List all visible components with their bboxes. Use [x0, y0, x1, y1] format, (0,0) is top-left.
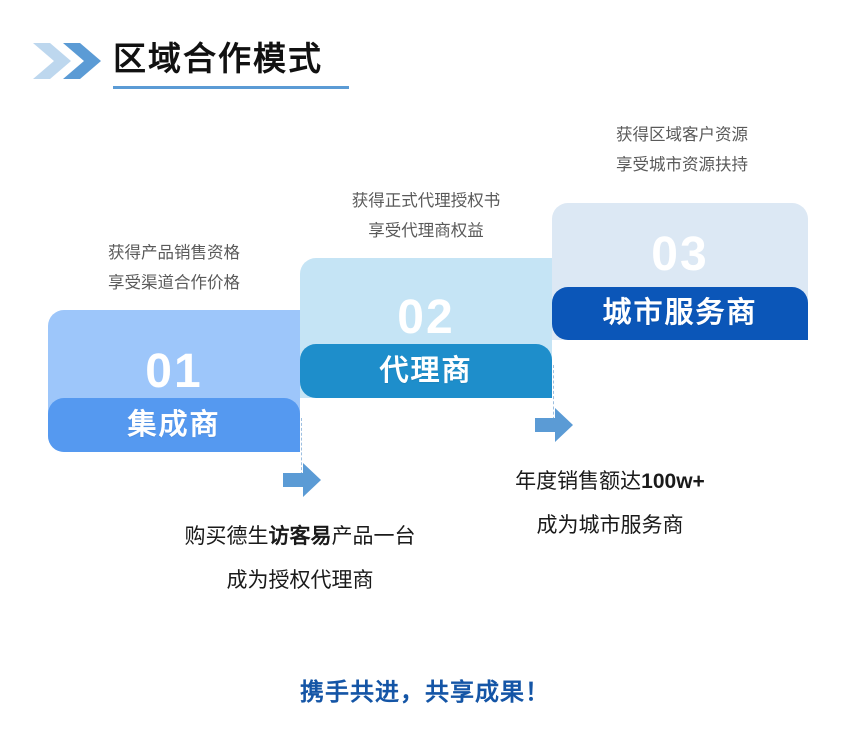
step-caption-1-line1: 获得产品销售资格	[48, 238, 300, 268]
step-number-3: 03	[552, 231, 808, 279]
cooperation-steps-stage: 获得产品销售资格 享受渠道合作价格 01 集成商 获得正式代理授权书 享受代理商…	[0, 0, 850, 737]
step-number-1: 01	[48, 348, 300, 396]
arrow-right-icon-1	[283, 463, 321, 497]
step-label-2[interactable]: 代理商	[300, 344, 552, 398]
transition-caption-2-line2: 成为城市服务商	[420, 504, 800, 548]
transition-caption-2-prefix: 年度销售额达	[515, 470, 641, 493]
step-label-3[interactable]: 城市服务商	[552, 287, 808, 340]
step-caption-1-line2: 享受渠道合作价格	[48, 268, 300, 298]
step-number-2: 02	[300, 294, 552, 342]
transition-caption-1-prefix: 购买德生	[185, 525, 269, 548]
step-caption-1: 获得产品销售资格 享受渠道合作价格	[48, 238, 300, 298]
step-caption-2-line2: 享受代理商权益	[300, 216, 552, 246]
transition-caption-1-bold: 访客易	[269, 525, 332, 548]
transition-caption-2-line1: 年度销售额达100w+	[420, 460, 800, 504]
footer-slogan: 携手共进，共享成果！	[0, 672, 850, 707]
step-label-1[interactable]: 集成商	[48, 398, 300, 452]
arrow-right-icon-2	[535, 408, 573, 442]
step-caption-2-line1: 获得正式代理授权书	[300, 186, 552, 216]
transition-caption-2-bold: 100w+	[641, 470, 705, 493]
step-caption-3: 获得区域客户资源 享受城市资源扶持	[556, 120, 808, 180]
step-caption-3-line1: 获得区域客户资源	[556, 120, 808, 150]
step-caption-2: 获得正式代理授权书 享受代理商权益	[300, 186, 552, 246]
transition-caption-1-line2: 成为授权代理商	[110, 559, 490, 603]
step-caption-3-line2: 享受城市资源扶持	[556, 150, 808, 180]
transition-caption-2: 年度销售额达100w+ 成为城市服务商	[420, 460, 800, 548]
transition-caption-1-suffix: 产品一台	[332, 525, 416, 548]
